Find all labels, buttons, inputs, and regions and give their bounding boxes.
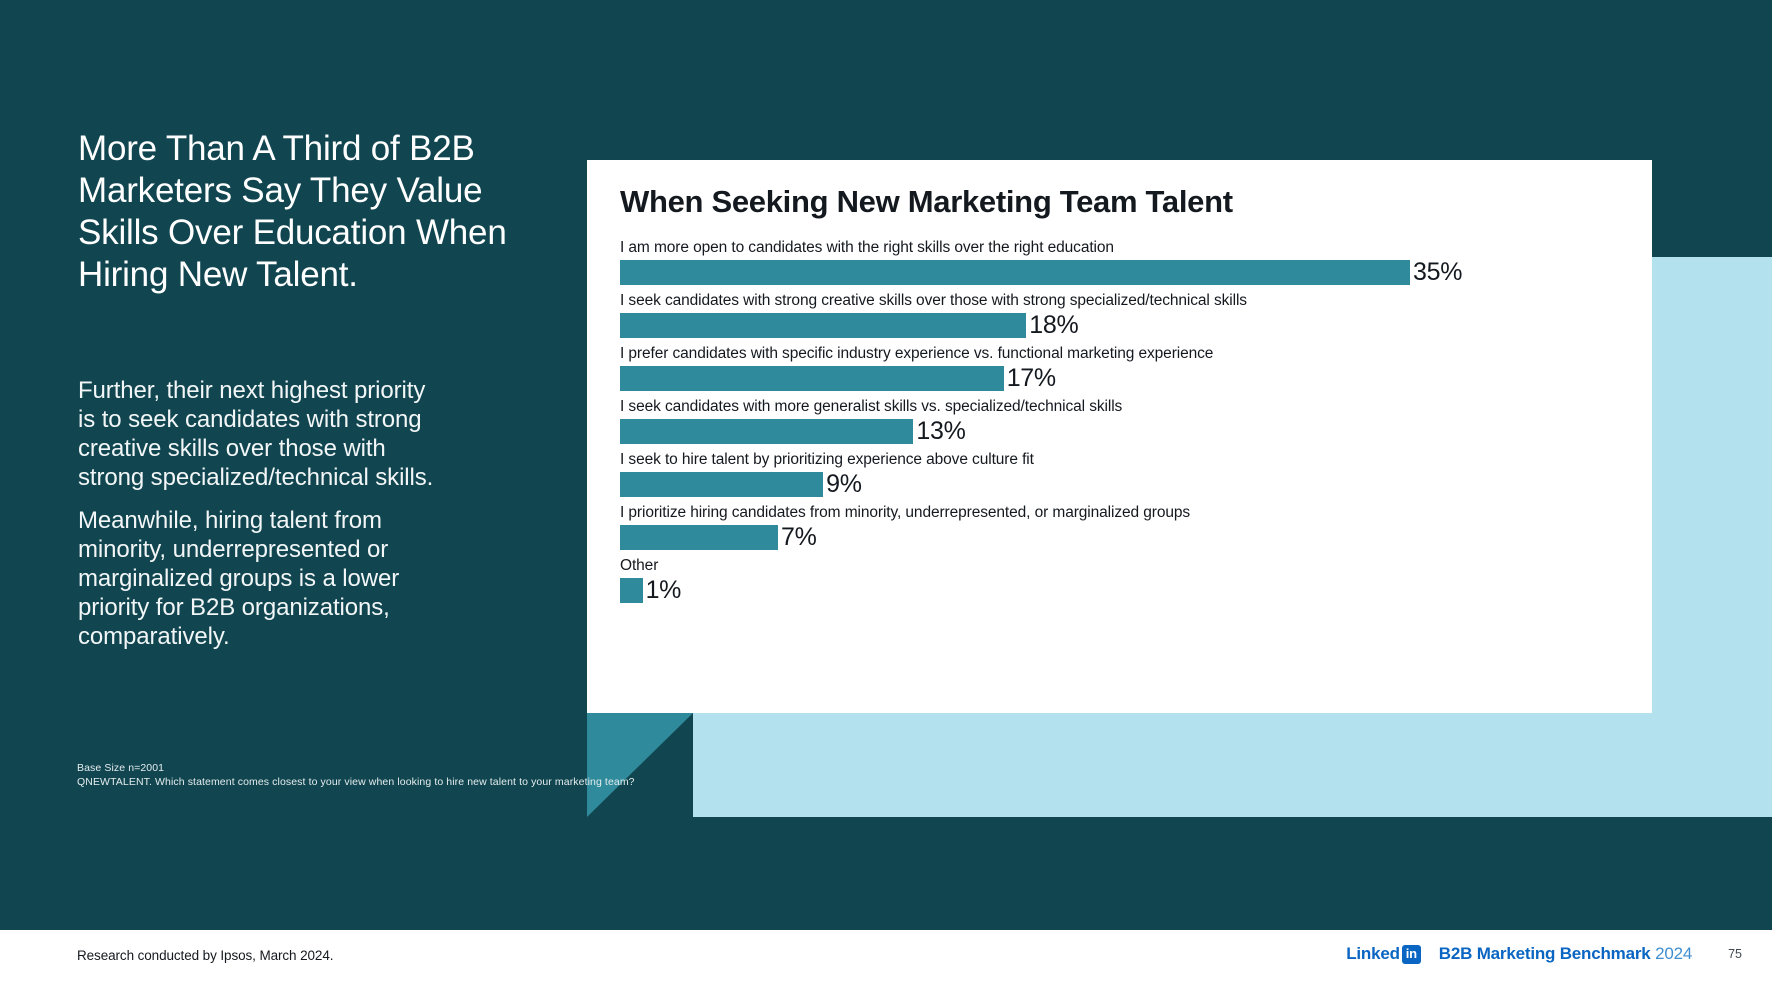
bar-fill [620,366,1004,391]
bar-value-label: 17% [1007,366,1056,391]
bar-row: I seek to hire talent by prioritizing ex… [620,450,1638,497]
linkedin-wordmark: Linked [1346,944,1400,964]
footer-research-note: Research conducted by Ipsos, March 2024. [77,948,333,963]
bar-fill [620,472,823,497]
report-title: B2B Marketing Benchmark 2024 [1439,944,1692,964]
bar-track: 1% [620,578,1638,603]
chart-card: When Seeking New Marketing Team Talent I… [587,160,1652,713]
page-title: More Than A Third of B2B Marketers Say T… [78,128,508,296]
bar-track: 17% [620,366,1638,391]
bar-row: I seek candidates with more generalist s… [620,397,1638,444]
bar-category-label: I seek candidates with more generalist s… [620,397,1638,417]
bar-fill [620,578,643,603]
bar-row: I prioritize hiring candidates from mino… [620,503,1638,550]
bar-category-label: I prioritize hiring candidates from mino… [620,503,1638,523]
bar-value-label: 1% [646,578,682,603]
bar-track: 9% [620,472,1638,497]
bar-row: I am more open to candidates with the ri… [620,238,1638,285]
bar-value-label: 9% [826,472,862,497]
chart-title: When Seeking New Marketing Team Talent [620,184,1233,220]
bar-value-label: 35% [1413,260,1462,285]
bar-track: 35% [620,260,1638,285]
bar-chart: I am more open to candidates with the ri… [620,238,1638,609]
footnote-question: QNEWTALENT. Which statement comes closes… [77,776,635,790]
bar-fill [620,260,1410,285]
bar-category-label: I am more open to candidates with the ri… [620,238,1638,258]
bar-category-label: I seek to hire talent by prioritizing ex… [620,450,1638,470]
bar-row: I prefer candidates with specific indust… [620,344,1638,391]
page-number: 75 [1728,947,1742,961]
footer-brand-group: Linked in B2B Marketing Benchmark 2024 7… [1346,944,1742,964]
bar-row: I seek candidates with strong creative s… [620,291,1638,338]
bar-category-label: I seek candidates with strong creative s… [620,291,1638,311]
footnote: Base Size n=2001 QNEWTALENT. Which state… [77,762,635,789]
linkedin-logo: Linked in [1346,944,1421,964]
bar-value-label: 7% [781,525,817,550]
bar-value-label: 13% [916,419,965,444]
body-paragraph-1: Further, their next highest priority is … [78,376,448,492]
footer-bar: Research conducted by Ipsos, March 2024.… [0,930,1772,986]
bar-fill [620,313,1026,338]
slide-root: More Than A Third of B2B Marketers Say T… [0,0,1772,986]
footnote-base-size: Base Size n=2001 [77,762,635,776]
report-year: 2024 [1655,944,1692,963]
bar-track: 13% [620,419,1638,444]
bar-track: 7% [620,525,1638,550]
bar-track: 18% [620,313,1638,338]
bar-fill [620,419,913,444]
bar-category-label: I prefer candidates with specific indust… [620,344,1638,364]
report-title-text: B2B Marketing Benchmark [1439,944,1651,963]
bar-category-label: Other [620,556,1638,576]
bar-fill [620,525,778,550]
bar-row: Other1% [620,556,1638,603]
bar-value-label: 18% [1029,313,1078,338]
body-paragraph-2: Meanwhile, hiring talent from minority, … [78,506,448,651]
linkedin-in-icon: in [1402,945,1421,964]
